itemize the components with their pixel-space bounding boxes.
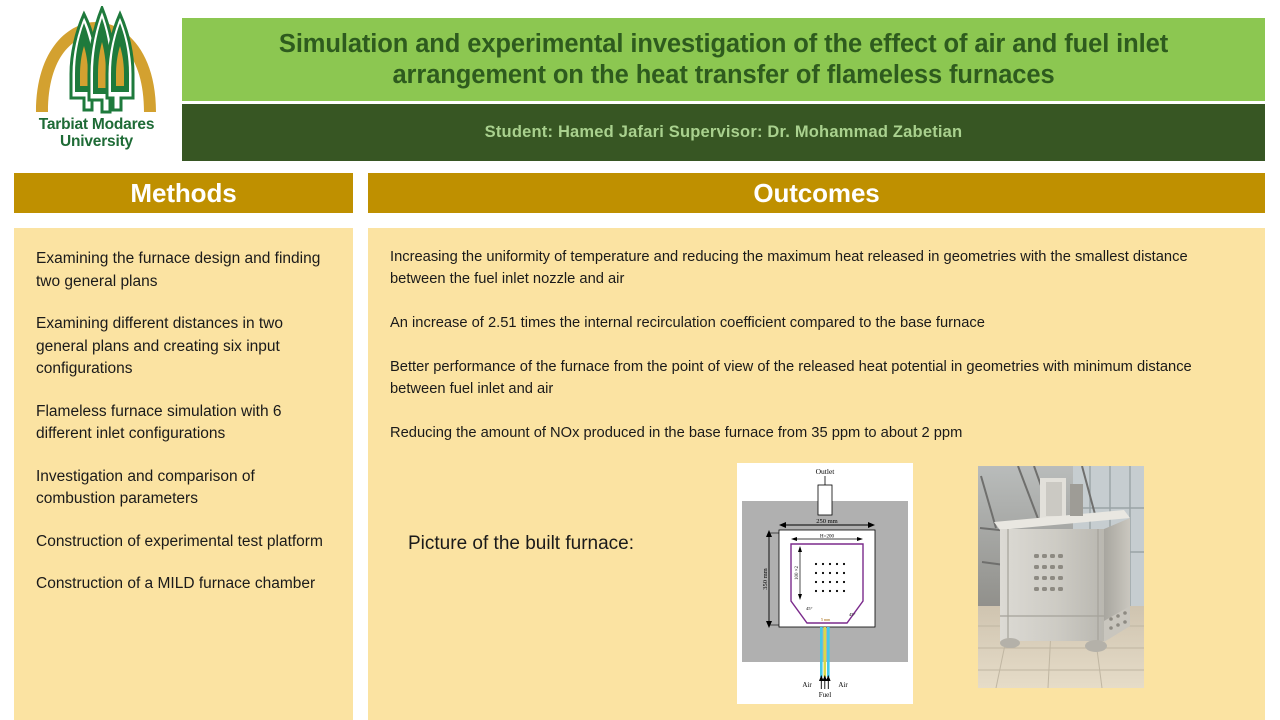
furnace-front-face xyxy=(1000,529,1104,641)
methods-section-header: Methods xyxy=(14,173,353,213)
poster-authors: Student: Hamed Jafari Supervisor: Dr. Mo… xyxy=(485,123,963,142)
university-logo-text: Tarbiat Modares University xyxy=(14,116,179,150)
list-item: An increase of 2.51 times the internal r… xyxy=(390,312,1228,334)
air-inlet-jet-right xyxy=(827,627,830,677)
width-dimension-label: 250 mm xyxy=(816,518,838,525)
list-item: Investigation and comparison of combusti… xyxy=(36,466,336,511)
air-label-right: Air xyxy=(838,681,848,689)
university-logo: Tarbiat Modares University xyxy=(14,6,179,161)
furnace-schematic-diagram: Outlet 250 mm 350 mm H=200 xyxy=(737,463,913,704)
methods-panel: Examining the furnace design and finding… xyxy=(14,228,353,720)
furnace-foot-right xyxy=(1085,640,1107,652)
outcomes-list: Increasing the uniformity of temperature… xyxy=(390,246,1228,466)
fuel-label: Fuel xyxy=(819,691,832,699)
university-logo-mark xyxy=(14,6,179,118)
list-item: Examining different distances in two gen… xyxy=(36,313,336,381)
list-item: Construction of experimental test platfo… xyxy=(36,531,336,554)
built-furnace-photo-svg xyxy=(978,466,1144,688)
list-item: Construction of a MILD furnace chamber xyxy=(36,573,336,596)
angle-right-label: 45° xyxy=(849,612,856,617)
list-item: Flameless furnace simulation with 6 diff… xyxy=(36,401,336,446)
fuel-inlet-jet xyxy=(824,627,827,677)
outlet-stack xyxy=(818,485,832,515)
outcomes-panel: Increasing the uniformity of temperature… xyxy=(368,228,1265,720)
furnace-chimney xyxy=(1070,484,1083,516)
furnace-schematic-svg: Outlet 250 mm 350 mm H=200 xyxy=(737,463,913,704)
poster-title: Simulation and experimental investigatio… xyxy=(204,29,1243,91)
air-inlet-jet-left xyxy=(820,627,823,677)
outlet-label: Outlet xyxy=(816,467,836,476)
methods-list: Examining the furnace design and finding… xyxy=(36,248,336,616)
methods-heading-text: Methods xyxy=(130,178,236,209)
poster-header: Tarbiat Modares University Simulation an… xyxy=(0,0,1280,165)
inner-height-dimension-label: 100 ×2 xyxy=(795,565,800,580)
built-furnace-photograph xyxy=(978,466,1144,688)
list-item: Increasing the uniformity of temperature… xyxy=(390,246,1228,290)
poster-authors-bar: Student: Hamed Jafari Supervisor: Dr. Mo… xyxy=(182,104,1265,161)
furnace-foot-left xyxy=(1000,638,1020,648)
logo-text-line-2: University xyxy=(14,133,179,150)
poster-title-bar: Simulation and experimental investigatio… xyxy=(182,18,1265,101)
inner-width-dimension-label: H=200 xyxy=(820,535,834,540)
figure-caption: Picture of the built furnace: xyxy=(408,533,634,555)
air-label-left: Air xyxy=(802,681,812,689)
outcomes-heading-text: Outcomes xyxy=(753,178,879,209)
nozzle-annotation: 5 mm xyxy=(821,617,831,622)
angle-left-label: 45° xyxy=(806,606,813,611)
list-item: Examining the furnace design and finding… xyxy=(36,248,336,293)
outcomes-section-header: Outcomes xyxy=(368,173,1265,213)
height-dimension-label: 350 mm xyxy=(762,568,769,590)
list-item: Better performance of the furnace from t… xyxy=(390,356,1228,400)
list-item: Reducing the amount of NOx produced in t… xyxy=(390,422,1228,444)
logo-text-line-1: Tarbiat Modares xyxy=(14,116,179,133)
